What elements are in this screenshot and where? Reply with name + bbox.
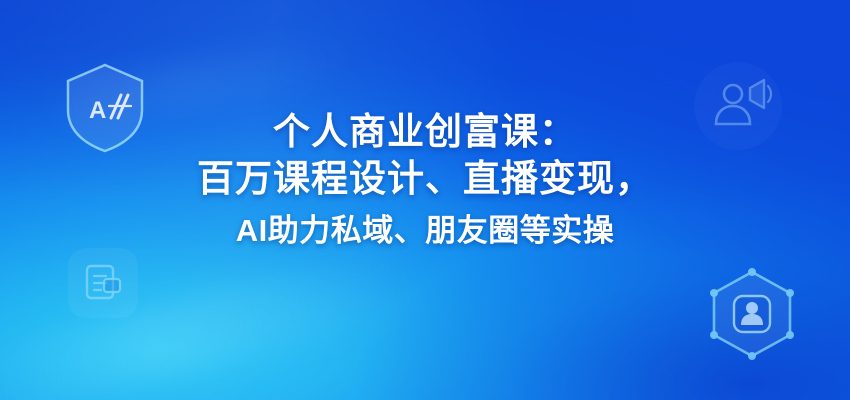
title-line-3: AI助力私域、朋友圈等实操 [0, 211, 850, 251]
title-line-2: 百万课程设计、直播变现， [0, 155, 850, 202]
title-line-1: 个人商业创富课： [0, 108, 850, 155]
banner-title-block: 个人商业创富课： 百万课程设计、直播变现， AI助力私域、朋友圈等实操 [0, 108, 850, 250]
document-icon [66, 246, 140, 320]
course-promo-banner: A [0, 0, 850, 400]
hexagon-person-icon [698, 262, 806, 374]
